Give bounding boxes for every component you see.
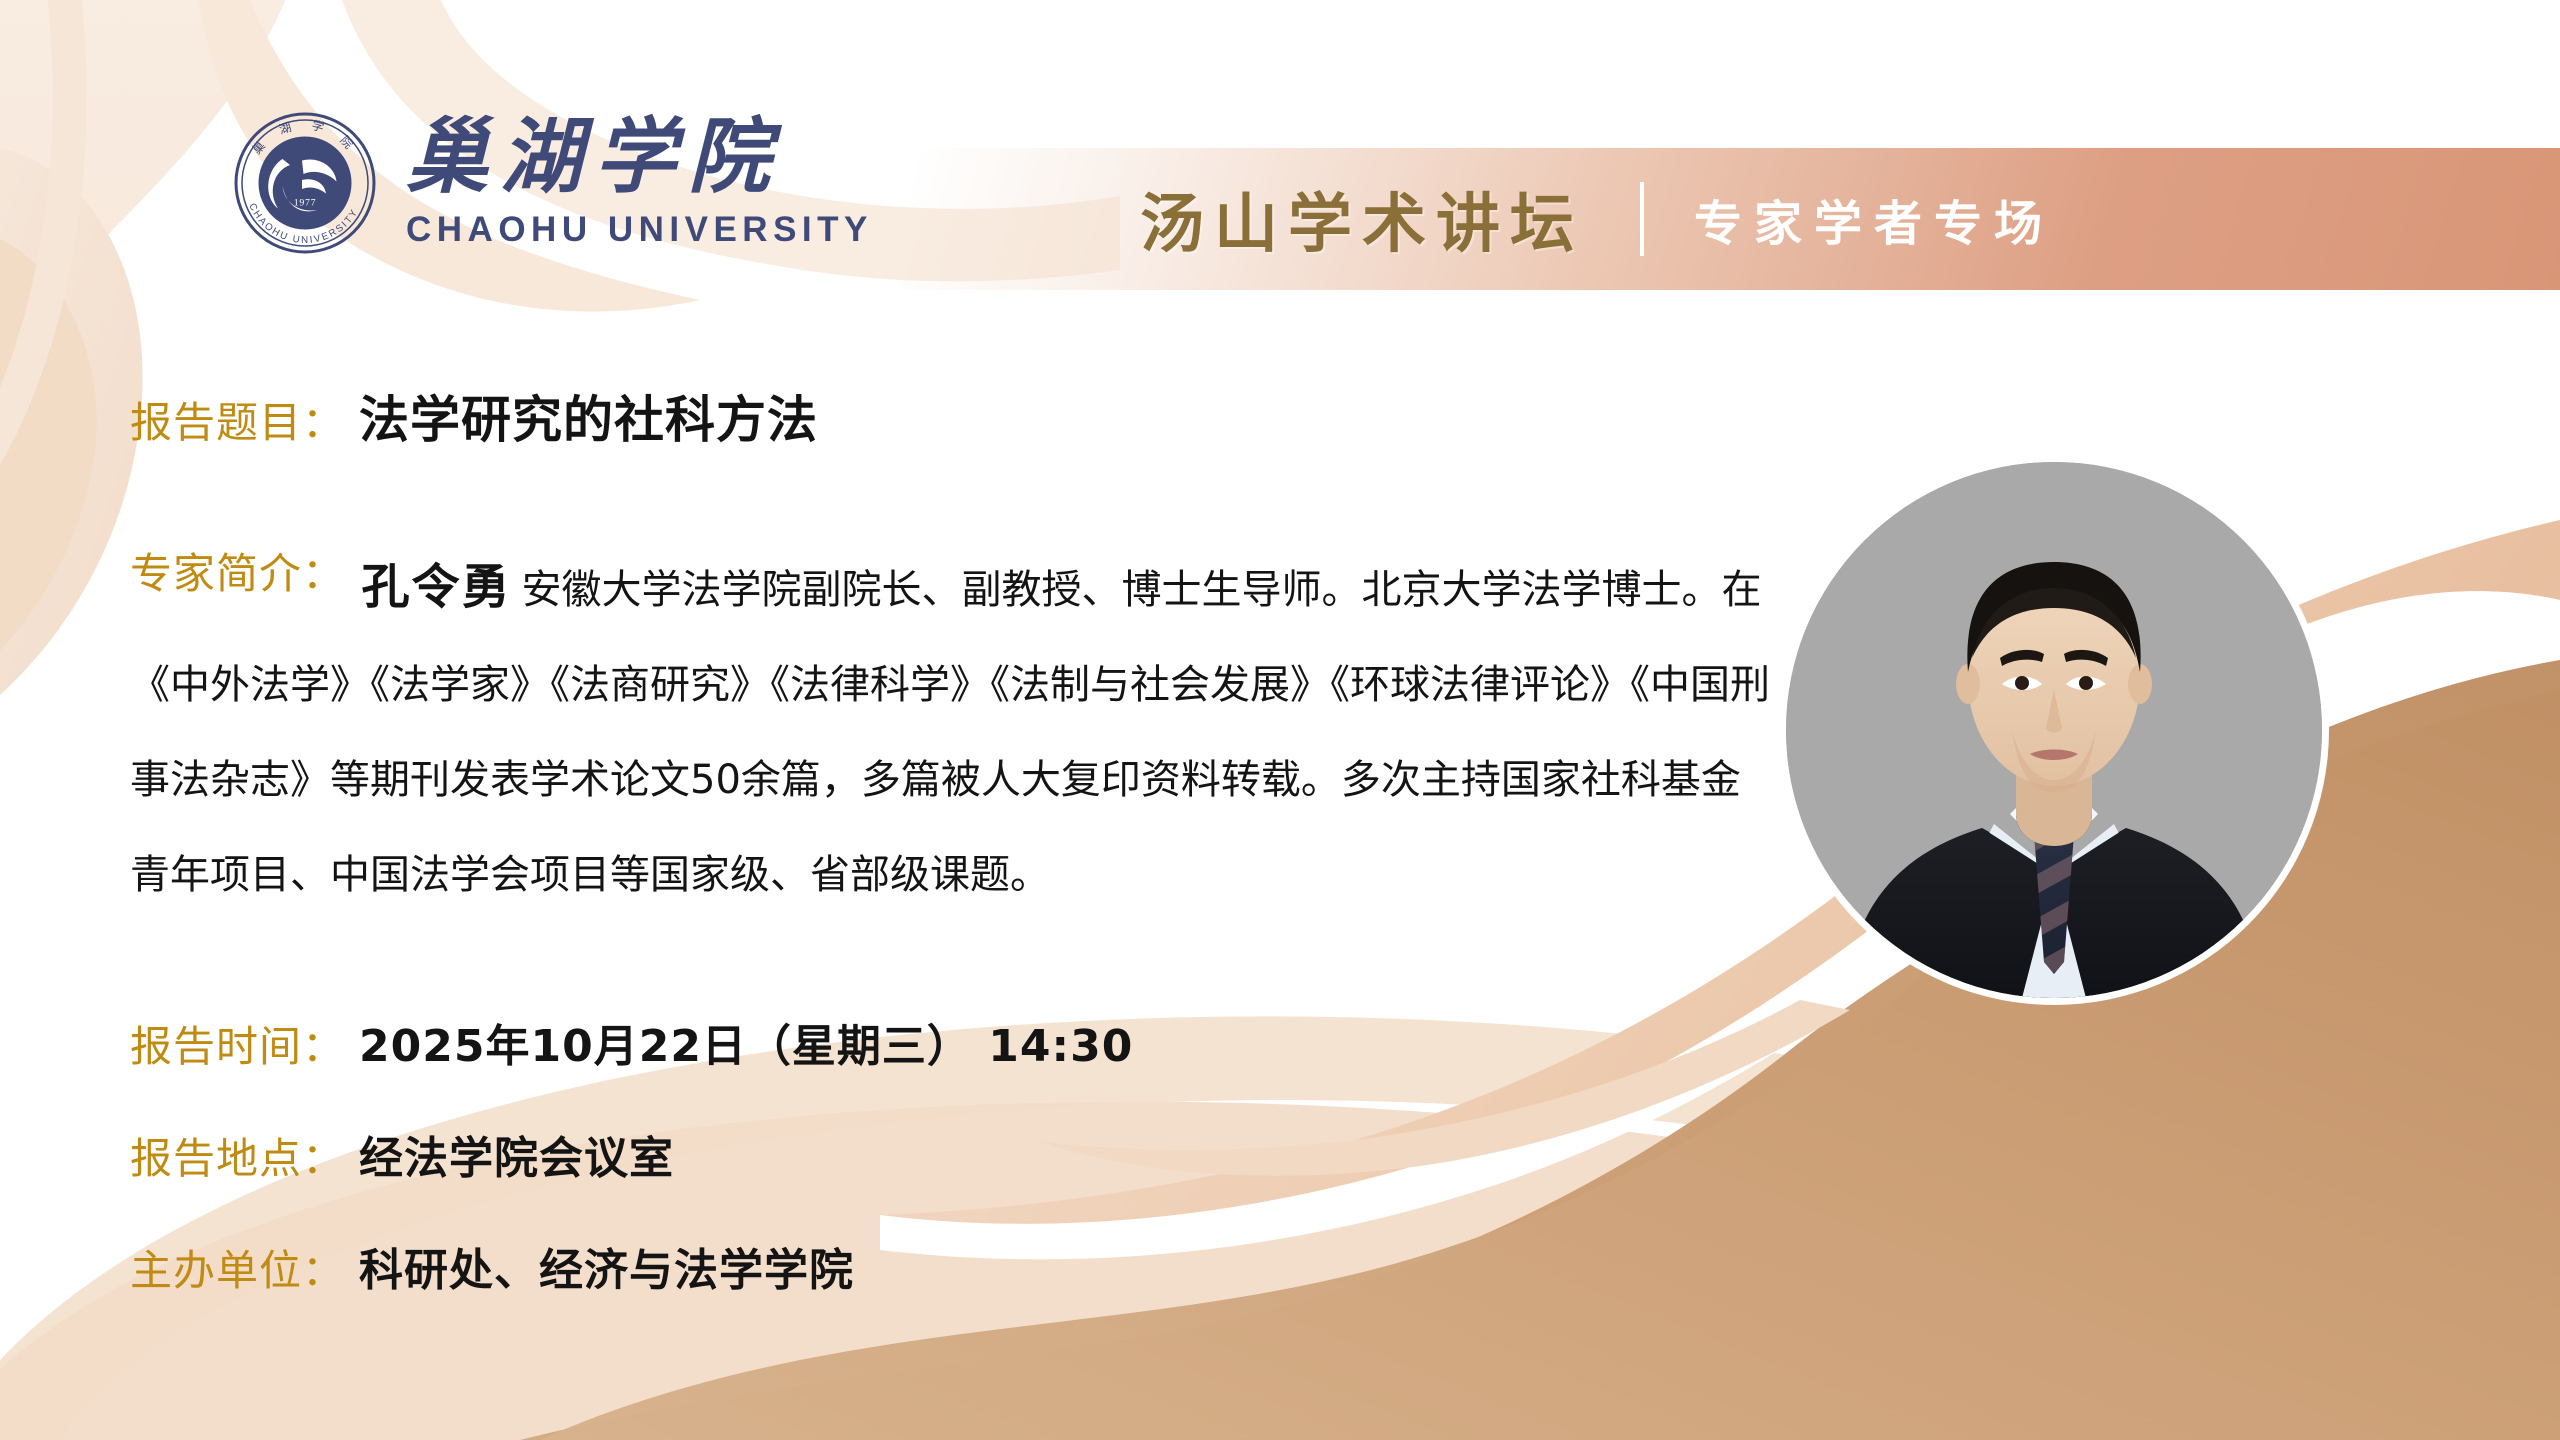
report-time-row: 报告时间： 2025年10月22日（星期三） 14:30 bbox=[130, 1010, 1133, 1074]
poster-canvas: 汤山学术讲坛 专家学者专场 1977 巢 湖 学 院 bbox=[0, 0, 2560, 1440]
speaker-portrait-image bbox=[1786, 462, 2322, 998]
report-host-label: 主办单位： bbox=[130, 1237, 345, 1298]
speaker-portrait bbox=[1786, 462, 2322, 998]
report-host-value: 科研处、经济与法学学院 bbox=[359, 1234, 854, 1298]
speaker-bio-label: 专家简介： bbox=[130, 549, 345, 598]
speaker-bio-body: 孔令勇安徽大学法学院副院长、副教授、博士生导师。北京大学法学博士。在《中外法学》… bbox=[130, 567, 1770, 898]
report-time-label: 报告时间： bbox=[130, 1013, 345, 1074]
report-place-label: 报告地点： bbox=[130, 1125, 345, 1186]
speaker-bio-text: 安徽大学法学院副院长、副教授、博士生导师。北京大学法学博士。在《中外法学》《法学… bbox=[130, 567, 1770, 898]
report-host-row: 主办单位： 科研处、经济与法学学院 bbox=[130, 1234, 854, 1298]
speaker-name: 孔令勇 bbox=[361, 559, 511, 615]
report-title-row: 报告题目： 法学研究的社科方法 bbox=[130, 380, 818, 452]
report-place-row: 报告地点： 经法学院会议室 bbox=[130, 1122, 674, 1186]
report-title-label: 报告题目： bbox=[130, 389, 345, 450]
speaker-bio-row: 专家简介： 孔令勇安徽大学法学院副院长、副教授、博士生导师。北京大学法学博士。在… bbox=[130, 540, 1770, 923]
report-place-value: 经法学院会议室 bbox=[359, 1122, 674, 1186]
report-time-value: 2025年10月22日（星期三） 14:30 bbox=[359, 1010, 1133, 1074]
report-title-value: 法学研究的社科方法 bbox=[359, 380, 818, 452]
